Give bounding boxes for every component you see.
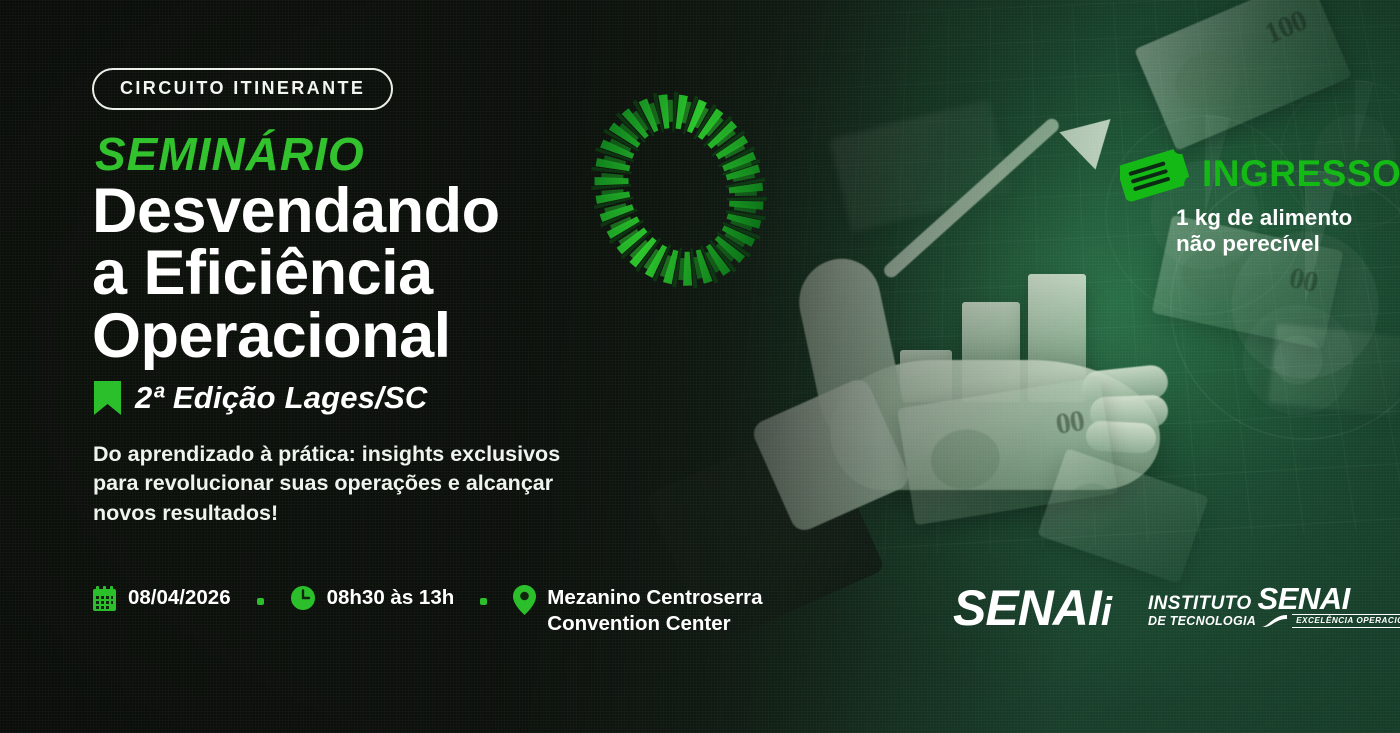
de-tecnologia-label: DE TECNOLOGIA (1148, 614, 1256, 628)
title-line-3: Operacional (92, 305, 752, 367)
ingresso-detail-line-2: não perecível (1176, 231, 1386, 257)
instituto-senai-logo: INSTITUTO SENAI DE TECNOLOGIA EXCELÊNCIA… (1148, 586, 1360, 628)
senai-logo-i: i (1101, 590, 1111, 634)
growth-arrow-line (881, 116, 1061, 280)
palm (830, 360, 1160, 490)
separator-dot (480, 598, 487, 605)
ingresso-title-row: INGRESSO (1120, 143, 1386, 203)
ingresso-detail: 1 kg de alimento não perecível (1176, 205, 1386, 258)
page-title: Desvendando a Eficiência Operacional (92, 180, 752, 367)
event-time: 08h30 às 13h (327, 585, 455, 611)
senai-logo: SENAIi (953, 583, 1111, 633)
chart-bar (962, 302, 1020, 402)
title-line-2: a Eficiência (92, 242, 752, 304)
edition-label: 2ª Edição Lages/SC (135, 380, 427, 416)
perspective-grid (724, 0, 1400, 566)
ingresso-badge: INGRESSO 1 kg de alimento não perecível (1120, 143, 1386, 258)
ingresso-detail-line-1: 1 kg de alimento (1176, 205, 1386, 231)
banknote-image (1268, 323, 1400, 416)
event-date: 08/04/2026 (128, 585, 231, 611)
ingresso-title: INGRESSO (1202, 155, 1400, 192)
instituto-label: INSTITUTO (1148, 594, 1252, 613)
finger (1089, 395, 1168, 430)
senai-logo-text: SENAI (953, 580, 1101, 636)
circuit-badge: CIRCUITO ITINERANTE (92, 68, 393, 110)
title-line-1: Desvendando (92, 176, 500, 246)
banknote-image (829, 99, 1012, 232)
event-venue: Mezanino Centroserra Convention Center (547, 585, 762, 637)
separator-dot (257, 598, 264, 605)
ticket-icon (1120, 145, 1194, 203)
event-info-bar: 08/04/2026 08h30 às 13h Mezanino Centros… (92, 585, 763, 637)
chart-bar (900, 350, 952, 402)
time-item: 08h30 às 13h (290, 585, 455, 611)
calendar-icon (92, 585, 117, 612)
edition-row: 2ª Edição Lages/SC (94, 380, 427, 416)
map-pin-icon (513, 585, 536, 615)
eyebrow-title: SEMINÁRIO (95, 131, 365, 177)
thumb (791, 252, 911, 455)
venue-item: Mezanino Centroserra Convention Center (513, 585, 762, 637)
banknote-image (1037, 448, 1209, 584)
excelencia-operacional-label: EXCELÊNCIA OPERACIONAL (1292, 614, 1400, 628)
content-column: CIRCUITO ITINERANTE SEMINÁRIO Desvendand… (0, 0, 760, 733)
gear-hub-icon (1238, 300, 1358, 420)
chart-bar (1028, 274, 1086, 402)
instituto-senai-top-row: INSTITUTO SENAI (1148, 586, 1360, 613)
banknote-image: 100 (1134, 0, 1352, 151)
date-item: 08/04/2026 (92, 585, 231, 612)
venue-line-1: Mezanino Centroserra (547, 585, 762, 611)
clock-icon (290, 585, 316, 611)
banknote-image: 00 (897, 377, 1118, 526)
bookmark-icon (94, 381, 121, 415)
description: Do aprendizado à prática: insights exclu… (93, 440, 573, 528)
shirt-cuff (749, 375, 912, 534)
finger (1080, 364, 1169, 407)
instituto-senai-bottom-row: DE TECNOLOGIA EXCELÊNCIA OPERACIONAL (1148, 614, 1360, 628)
description-line-1: Do aprendizado à prática: insights exclu… (93, 440, 573, 469)
swoosh-icon (1261, 614, 1287, 628)
finger (1085, 420, 1156, 454)
instituto-senai-wordmark: SENAI (1258, 586, 1350, 613)
venue-line-2: Convention Center (547, 611, 762, 637)
description-line-3: novos resultados! (93, 499, 573, 528)
growth-arrow-head (1059, 100, 1128, 169)
description-line-2: para revolucionar suas operações e alcan… (93, 469, 573, 498)
event-banner: 100 00 00 (0, 0, 1400, 733)
